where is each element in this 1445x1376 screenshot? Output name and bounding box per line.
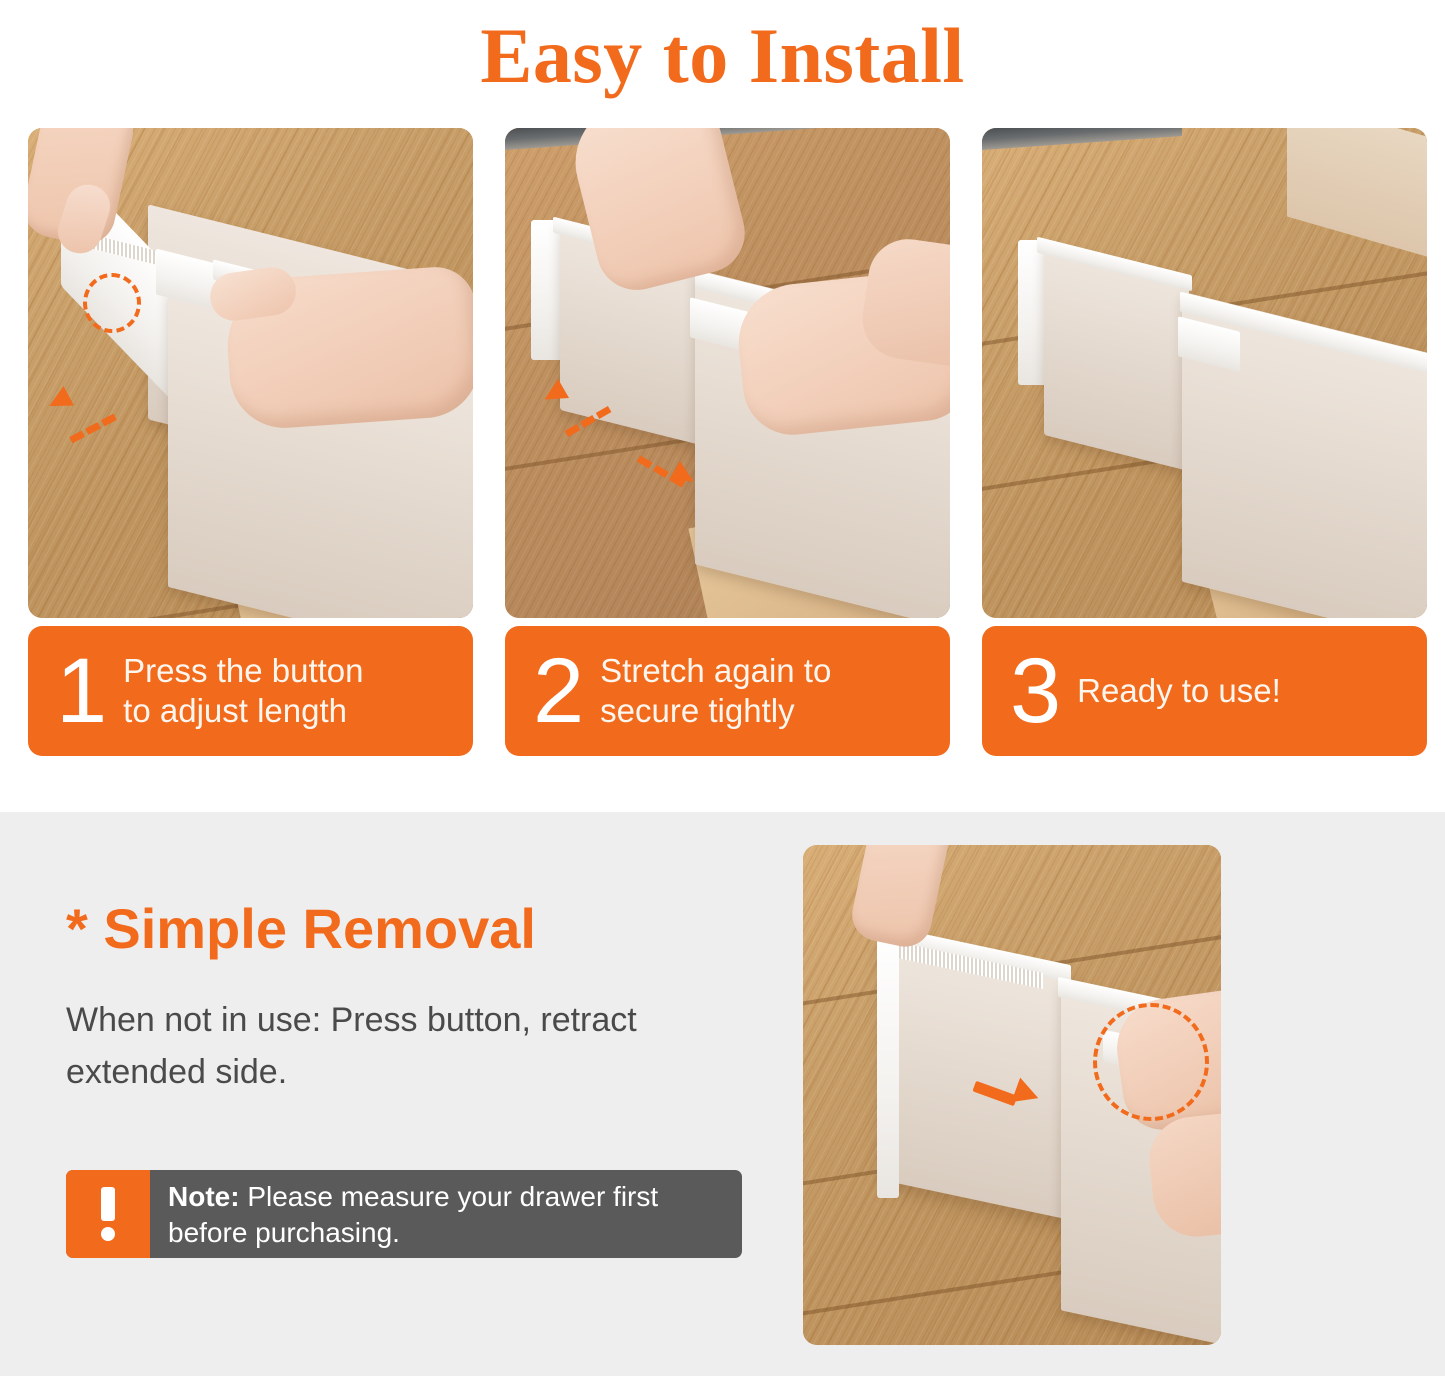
removal-text-block: * Simple Removal When not in use: Press … (66, 898, 766, 1099)
step-2-caption: 2 Stretch again to secure tightly (505, 626, 950, 756)
step-1-text: Press the button to adjust length (113, 651, 375, 732)
install-steps: 1 Press the button to adjust length (0, 128, 1445, 812)
simple-removal-section: * Simple Removal When not in use: Press … (0, 812, 1445, 1376)
step-2-photo (505, 128, 950, 618)
page-title: Easy to Install (480, 17, 964, 95)
removal-body: When not in use: Press button, retract e… (66, 994, 766, 1099)
step-2-text: Stretch again to secure tightly (590, 651, 843, 732)
step-2-number: 2 (505, 650, 590, 733)
step-1-text-line2: to adjust length (123, 691, 363, 731)
step-1-caption: 1 Press the button to adjust length (28, 626, 473, 756)
note-label: Note: (168, 1181, 240, 1212)
dashed-circle-highlight-icon (1093, 1003, 1209, 1121)
note-badge (66, 1170, 150, 1258)
step-card-1: 1 Press the button to adjust length (28, 128, 477, 812)
removal-photo (803, 845, 1221, 1345)
divider-left-end-cap (877, 933, 899, 1198)
exclamation-icon (101, 1187, 115, 1241)
step-2-text-line2: secure tightly (600, 691, 831, 731)
note-box: Note: Please measure your drawer first b… (66, 1170, 742, 1258)
step-1-text-line1: Press the button (123, 651, 363, 691)
step-3-caption: 3 Ready to use! (982, 626, 1427, 756)
step-2-text-line1: Stretch again to (600, 651, 831, 691)
header: Easy to Install (0, 0, 1445, 112)
note-text: Note: Please measure your drawer first b… (150, 1170, 742, 1258)
step-3-photo (982, 128, 1427, 618)
step-card-3: 3 Ready to use! (982, 128, 1431, 812)
step-1-number: 1 (28, 650, 113, 733)
step-card-2: 2 Stretch again to secure tightly (505, 128, 954, 812)
step-3-text: Ready to use! (1067, 671, 1293, 711)
step-3-text-line1: Ready to use! (1077, 671, 1281, 711)
note-body: Please measure your drawer first before … (168, 1181, 658, 1248)
dashed-circle-highlight-icon (83, 273, 141, 333)
removal-title: * Simple Removal (66, 898, 766, 960)
step-1-photo (28, 128, 473, 618)
step-3-number: 3 (982, 650, 1067, 733)
